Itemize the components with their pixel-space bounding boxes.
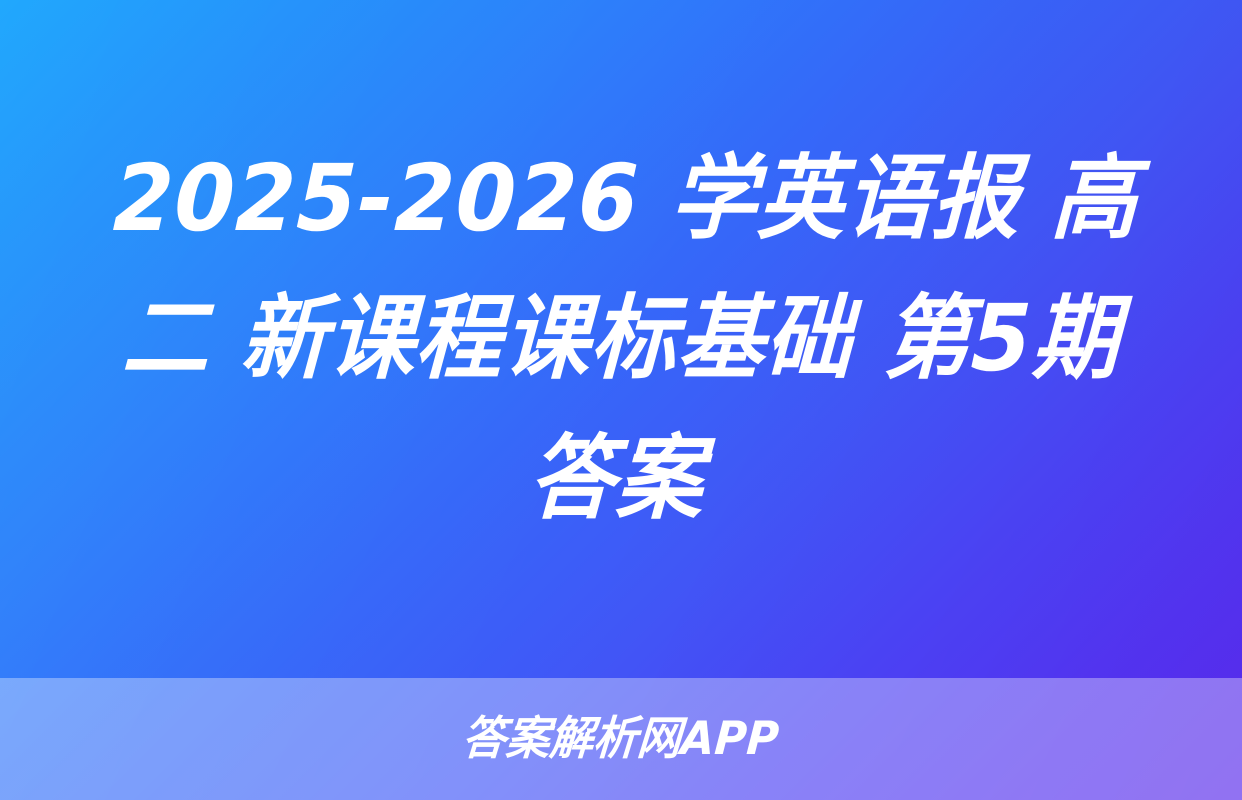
footer-watermark-band: 答案解析网APP	[0, 678, 1242, 800]
headline-area: 2025-2026 学英语报 高二 新课程课标基础 第5期答案	[0, 0, 1242, 678]
app-brand-label: 答案解析网APP	[461, 715, 781, 763]
page-title: 2025-2026 学英语报 高二 新课程课标基础 第5期答案	[87, 129, 1154, 549]
poster-canvas: 2025-2026 学英语报 高二 新课程课标基础 第5期答案 答案解析网APP	[0, 0, 1242, 800]
